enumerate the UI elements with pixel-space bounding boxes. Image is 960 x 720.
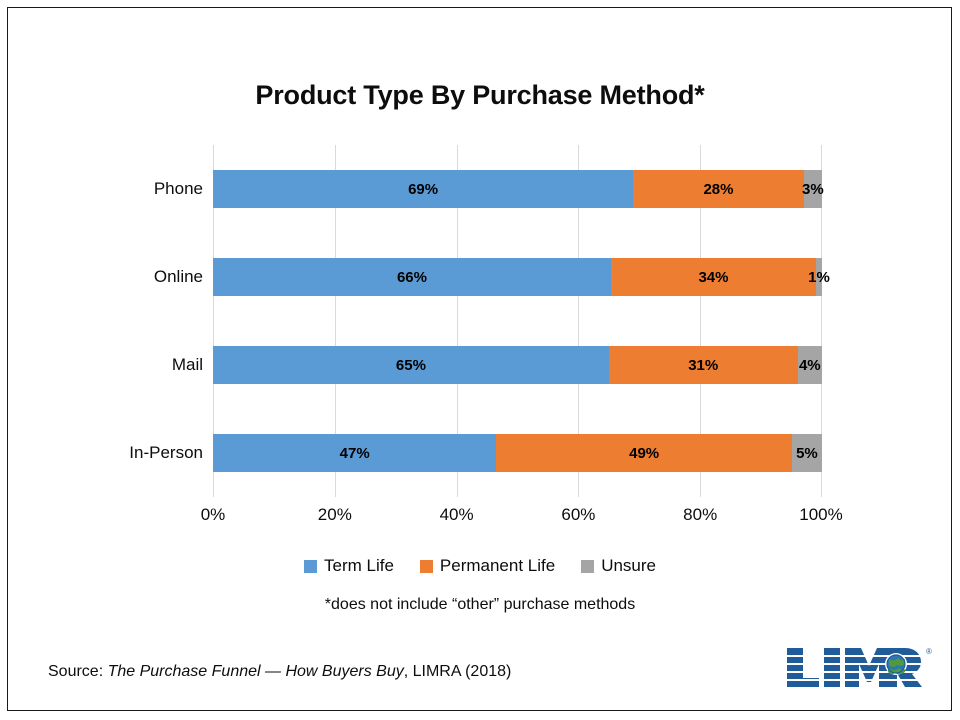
bar-segment-permanent-life-phone[interactable]: 28% xyxy=(633,170,804,208)
x-axis-tick-labels: 0% 20% 40% 60% 80% 100% xyxy=(213,505,822,531)
chart-title: Product Type By Purchase Method* xyxy=(0,80,960,111)
bar-value-label: 31% xyxy=(688,357,718,374)
legend-item-term-life[interactable]: Term Life xyxy=(304,556,394,576)
bar-rows: Phone 69% 28% 3% Online xyxy=(213,145,822,497)
bar-segment-permanent-life-in-person[interactable]: 49% xyxy=(496,434,791,472)
legend-item-permanent-life[interactable]: Permanent Life xyxy=(420,556,555,576)
bar-segment-unsure-phone[interactable]: 3% xyxy=(804,170,822,208)
bar-value-label: 47% xyxy=(340,445,370,462)
limra-logo: ® xyxy=(783,642,935,692)
chart-footnote: *does not include “other” purchase metho… xyxy=(0,596,960,614)
stacked-bar-in-person: 47% 49% 5% xyxy=(213,434,822,472)
chart-legend: Term Life Permanent Life Unsure xyxy=(0,556,960,576)
bar-segment-unsure-mail[interactable]: 4% xyxy=(798,346,822,384)
globe-icon xyxy=(885,653,907,675)
legend-label-permanent-life: Permanent Life xyxy=(440,556,555,576)
bar-segment-term-life-in-person[interactable]: 47% xyxy=(213,434,496,472)
source-title: The Purchase Funnel — How Buyers Buy xyxy=(108,663,404,680)
legend-swatch-unsure xyxy=(581,560,594,573)
bar-value-label: 4% xyxy=(799,357,821,374)
registered-mark: ® xyxy=(926,647,932,656)
bar-segment-term-life-mail[interactable]: 65% xyxy=(213,346,609,384)
bar-segment-term-life-online[interactable]: 66% xyxy=(213,258,611,296)
bar-value-label: 66% xyxy=(397,269,427,286)
legend-swatch-term-life xyxy=(304,560,317,573)
bar-segment-permanent-life-mail[interactable]: 31% xyxy=(609,346,798,384)
bar-segment-term-life-phone[interactable]: 69% xyxy=(213,170,633,208)
bar-value-label: 49% xyxy=(629,445,659,462)
x-tick-100: 100% xyxy=(799,505,842,525)
bar-value-label: 65% xyxy=(396,357,426,374)
bar-row-mail: Mail 65% 31% 4% xyxy=(213,321,822,409)
bar-value-label: 28% xyxy=(703,181,733,198)
source-line: Source: The Purchase Funnel — How Buyers… xyxy=(48,663,511,681)
slide-canvas: Product Type By Purchase Method* Phone 6… xyxy=(0,0,960,720)
bar-segment-permanent-life-online[interactable]: 34% xyxy=(611,258,816,296)
stacked-bar-mail: 65% 31% 4% xyxy=(213,346,822,384)
stacked-bar-phone: 69% 28% 3% xyxy=(213,170,822,208)
y-category-label-mail: Mail xyxy=(172,355,203,375)
x-tick-40: 40% xyxy=(440,505,474,525)
bar-row-phone: Phone 69% 28% 3% xyxy=(213,145,822,233)
source-prefix: Source: xyxy=(48,663,108,680)
x-tick-60: 60% xyxy=(561,505,595,525)
x-tick-20: 20% xyxy=(318,505,352,525)
bar-row-in-person: In-Person 47% 49% 5% xyxy=(213,409,822,497)
y-category-label-phone: Phone xyxy=(154,179,203,199)
bar-segment-unsure-online[interactable]: 1% xyxy=(816,258,822,296)
source-suffix: , LIMRA (2018) xyxy=(404,663,512,680)
stacked-bar-online: 66% 34% 1% xyxy=(213,258,822,296)
chart-plot-area: Phone 69% 28% 3% Online xyxy=(213,145,822,497)
bar-value-label: 3% xyxy=(802,181,824,198)
y-category-label-in-person: In-Person xyxy=(129,443,203,463)
x-tick-0: 0% xyxy=(201,505,226,525)
bar-value-label: 5% xyxy=(796,445,818,462)
legend-label-term-life: Term Life xyxy=(324,556,394,576)
x-tick-80: 80% xyxy=(683,505,717,525)
legend-item-unsure[interactable]: Unsure xyxy=(581,556,656,576)
bar-value-label: 69% xyxy=(408,181,438,198)
bar-value-label: 34% xyxy=(698,269,728,286)
legend-swatch-permanent-life xyxy=(420,560,433,573)
bar-segment-unsure-in-person[interactable]: 5% xyxy=(792,434,822,472)
y-category-label-online: Online xyxy=(154,267,203,287)
legend-label-unsure: Unsure xyxy=(601,556,656,576)
bar-row-online: Online 66% 34% 1% xyxy=(213,233,822,321)
bar-value-label: 1% xyxy=(808,269,830,286)
